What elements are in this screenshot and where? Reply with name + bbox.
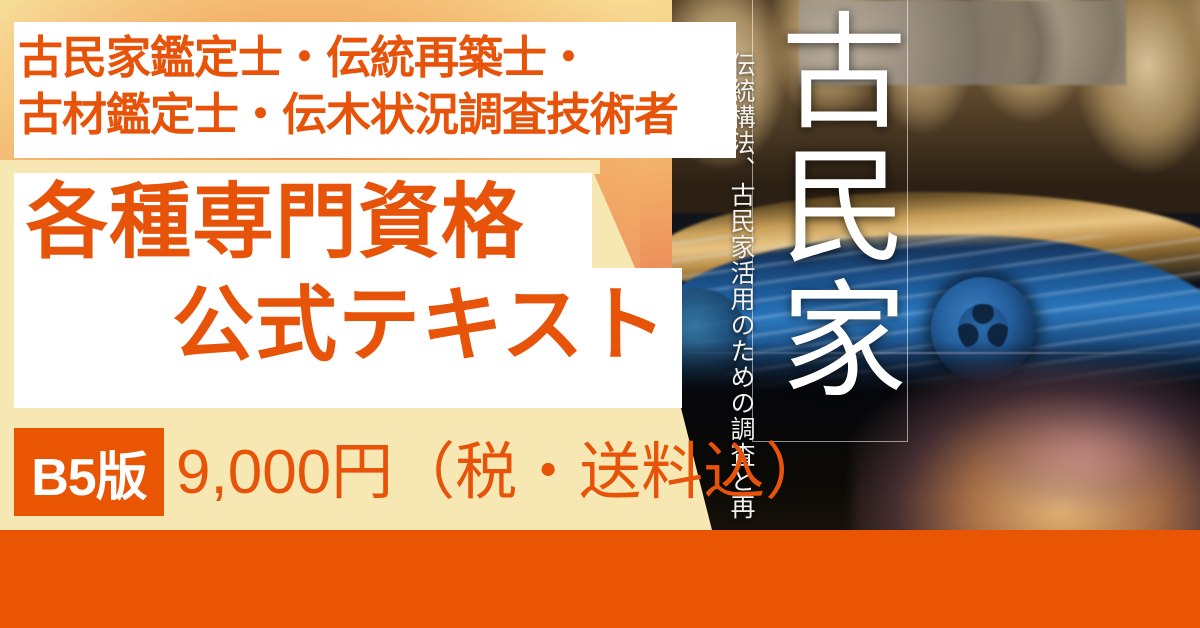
headline-line-2: 公式テキスト — [172, 285, 668, 367]
cover-title-text: 古民家 — [754, 6, 904, 408]
cta-bar[interactable]: 詳細・ご購入はこちら — [0, 530, 1200, 628]
promo-banner: 古民家 伝統構法、古民家活用のための調査と再生の 古民家鑑定士・伝統再築士・ 古… — [0, 0, 1200, 628]
size-badge: B5版 — [14, 428, 164, 516]
qualifications-subtitle-line-2: 古材鑑定士・伝木状況調査技術者 — [18, 87, 734, 144]
headline-line-1: 各種専門資格 — [26, 182, 524, 264]
qualifications-subtitle: 古民家鑑定士・伝統再築士・ 古材鑑定士・伝木状況調査技術者 — [18, 30, 734, 143]
qualifications-subtitle-line-1: 古民家鑑定士・伝統再築士・ — [18, 30, 734, 87]
cover-violet-glow — [978, 394, 1189, 511]
price-label: 9,000円（税・送料込） — [176, 431, 827, 515]
